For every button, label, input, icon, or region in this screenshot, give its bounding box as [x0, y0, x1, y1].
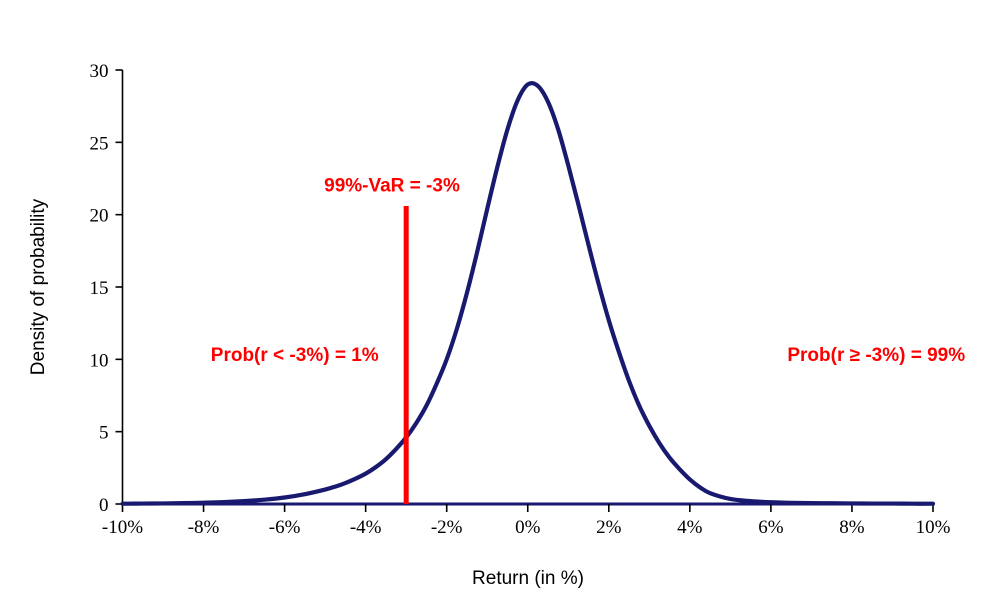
y-tick-label: 10 — [90, 350, 109, 371]
var-density-chart: 051015202530 -10%-8%-6%-4%-2%0%2%4%6%8%1… — [0, 0, 987, 611]
x-tick-label: -6% — [269, 517, 301, 538]
y-tick-label: 30 — [90, 61, 109, 82]
x-tick-label: -10% — [102, 517, 143, 538]
x-tick-label: -2% — [431, 517, 463, 538]
x-tick-label: 8% — [839, 517, 865, 538]
y-tick-label: 5 — [99, 423, 109, 444]
y-tick-label: 25 — [90, 133, 109, 154]
chart-annotations: 99%-VaR = -3%Prob(r < -3%) = 1%Prob(r ≥ … — [211, 176, 965, 366]
y-axis-tick-labels: 051015202530 — [90, 61, 109, 516]
annotation-var-label: 99%-VaR = -3% — [324, 176, 460, 197]
density-curve — [123, 83, 934, 504]
y-axis-ticks — [116, 70, 123, 504]
y-tick-label: 20 — [90, 206, 109, 227]
annotation-right-tail-prob: Prob(r ≥ -3%) = 99% — [787, 345, 965, 366]
y-tick-label: 0 — [99, 495, 109, 516]
x-tick-label: 4% — [677, 517, 703, 538]
x-tick-label: -4% — [350, 517, 382, 538]
x-tick-label: 6% — [758, 517, 784, 538]
x-tick-label: 2% — [596, 517, 622, 538]
y-axis-title: Density of probability — [28, 198, 49, 375]
x-tick-label: 0% — [515, 517, 541, 538]
x-axis-title: Return (in %) — [472, 568, 584, 589]
x-tick-label: -8% — [188, 517, 220, 538]
x-tick-label: 10% — [916, 517, 951, 538]
chart-canvas: 051015202530 -10%-8%-6%-4%-2%0%2%4%6%8%1… — [0, 0, 987, 611]
annotation-left-tail-prob: Prob(r < -3%) = 1% — [211, 345, 379, 366]
y-tick-label: 15 — [90, 278, 109, 299]
x-axis-tick-labels: -10%-8%-6%-4%-2%0%2%4%6%8%10% — [102, 517, 951, 538]
